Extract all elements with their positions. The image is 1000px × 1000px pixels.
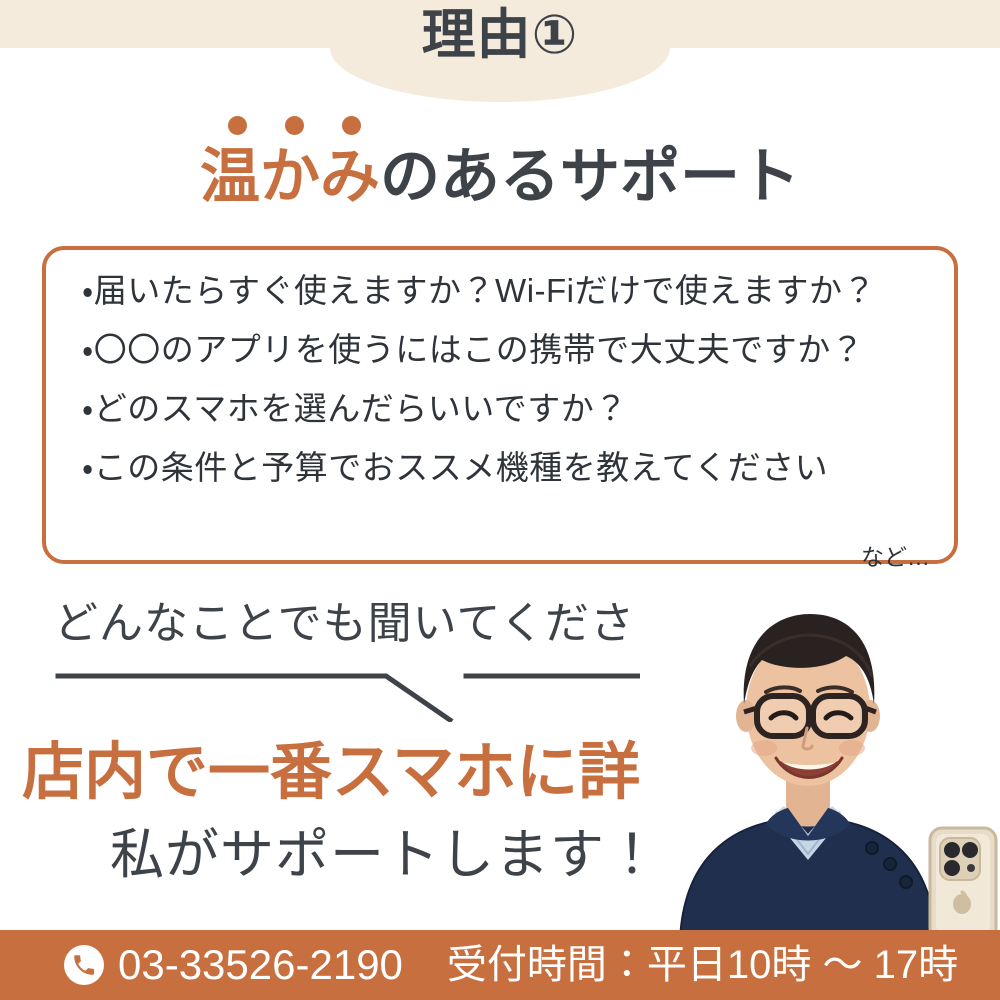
list-item: ・届いたらすぐ使えますか？Wi-Fiだけで使えますか？ (82, 274, 936, 307)
speech-tail-icon (50, 662, 660, 722)
question-list: ・届いたらすぐ使えますか？Wi-Fiだけで使えますか？ ・〇〇のアプリを使うには… (82, 274, 936, 484)
staff-portrait-illustration (640, 592, 1000, 940)
etc-label: など… (861, 538, 930, 572)
subtitle-rest: のあるサポート (380, 143, 800, 210)
staff-photo (640, 592, 1000, 940)
page-title: 理由① (0, 8, 1000, 62)
headline-dark: 私がサポートします！ (110, 828, 660, 882)
list-item: ・どのスマホを選んだらいいですか？ (82, 392, 936, 425)
subtitle-highlight: 温かみ (200, 143, 380, 210)
emphasis-dot (285, 116, 304, 135)
list-item: ・この条件と予算でおススメ機種を教えてください (82, 451, 936, 484)
phone-number[interactable]: 03-33526-2190 (118, 944, 403, 986)
phone-icon (64, 945, 104, 985)
question-box: ・届いたらすぐ使えますか？Wi-Fiだけで使えますか？ ・〇〇のアプリを使うには… (42, 246, 958, 564)
promo-page: 理由① 温かみのあるサポート ・届いたらすぐ使えますか？Wi-Fiだけで使えます… (0, 0, 1000, 1000)
footer-contact-bar: 03-33526-2190 受付時間：平日10時 〜 17時 (0, 930, 1000, 1000)
emphasis-dot (342, 116, 361, 135)
list-item: ・〇〇のアプリを使うにはこの携帯で大丈夫ですか？ (82, 333, 936, 366)
emphasis-dots (228, 116, 361, 135)
subtitle: 温かみのあるサポート (0, 142, 1000, 213)
emphasis-dot (228, 116, 247, 135)
callout-underline (50, 662, 660, 722)
business-hours: 受付時間：平日10時 〜 17時 (447, 945, 958, 985)
callout-text: どんなことでも聞いてください！ (54, 602, 725, 646)
